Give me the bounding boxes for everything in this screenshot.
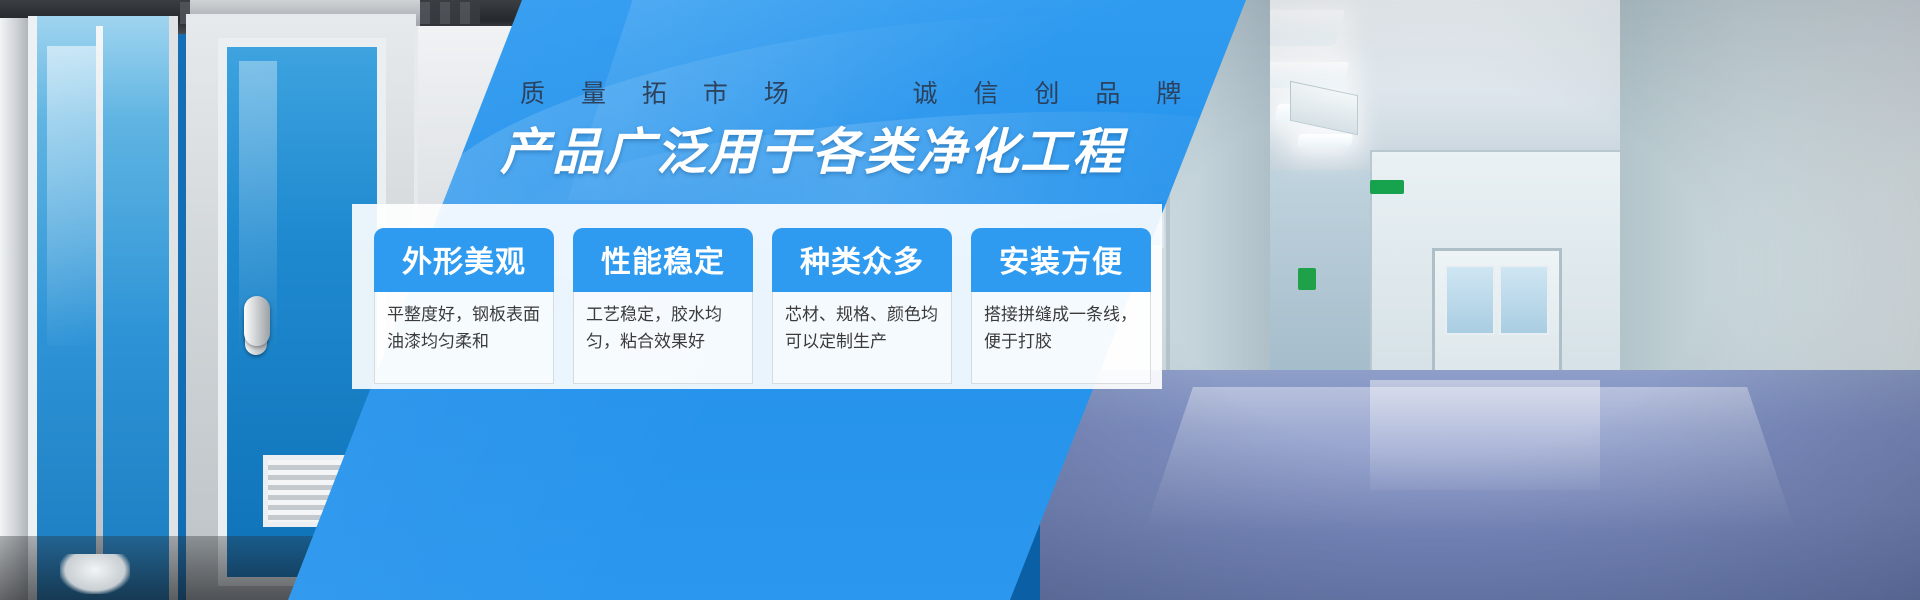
left-photo-door-lock — [244, 296, 270, 346]
feature-card[interactable]: 安装方便 搭接拼缝成一条线，便于打胶 — [971, 228, 1151, 384]
feature-card-body: 搭接拼缝成一条线，便于打胶 — [971, 292, 1151, 384]
left-photo-floor-object — [60, 554, 130, 594]
feature-card[interactable]: 外形美观 平整度好，钢板表面油漆均匀柔和 — [374, 228, 554, 384]
feature-card[interactable]: 种类众多 芯材、规格、颜色均可以定制生产 — [772, 228, 952, 384]
left-photo-cabin-a — [28, 16, 178, 600]
feature-card-title: 安装方便 — [971, 228, 1151, 292]
left-photo-glass-divider — [96, 26, 103, 586]
feature-card[interactable]: 性能稳定 工艺稳定，胶水均匀，粘合效果好 — [573, 228, 753, 384]
feature-card-title: 外形美观 — [374, 228, 554, 292]
feature-card-body: 平整度好，钢板表面油漆均匀柔和 — [374, 292, 554, 384]
promo-banner: 质 量 拓 市 场 诚 信 创 品 牌 产品广泛用于各类净化工程 外形美观 平整… — [0, 0, 1920, 600]
feature-card-title: 性能稳定 — [573, 228, 753, 292]
feature-card-body: 芯材、规格、颜色均可以定制生产 — [772, 292, 952, 384]
feature-card-body: 工艺稳定，胶水均匀，粘合效果好 — [573, 292, 753, 384]
feature-card-title: 种类众多 — [772, 228, 952, 292]
left-photo-frame-strip — [0, 18, 30, 600]
feature-card-panel: 外形美观 平整度好，钢板表面油漆均匀柔和 性能稳定 工艺稳定，胶水均匀，粘合效果… — [352, 204, 1162, 389]
panel-light-swoosh — [568, 0, 1153, 200]
